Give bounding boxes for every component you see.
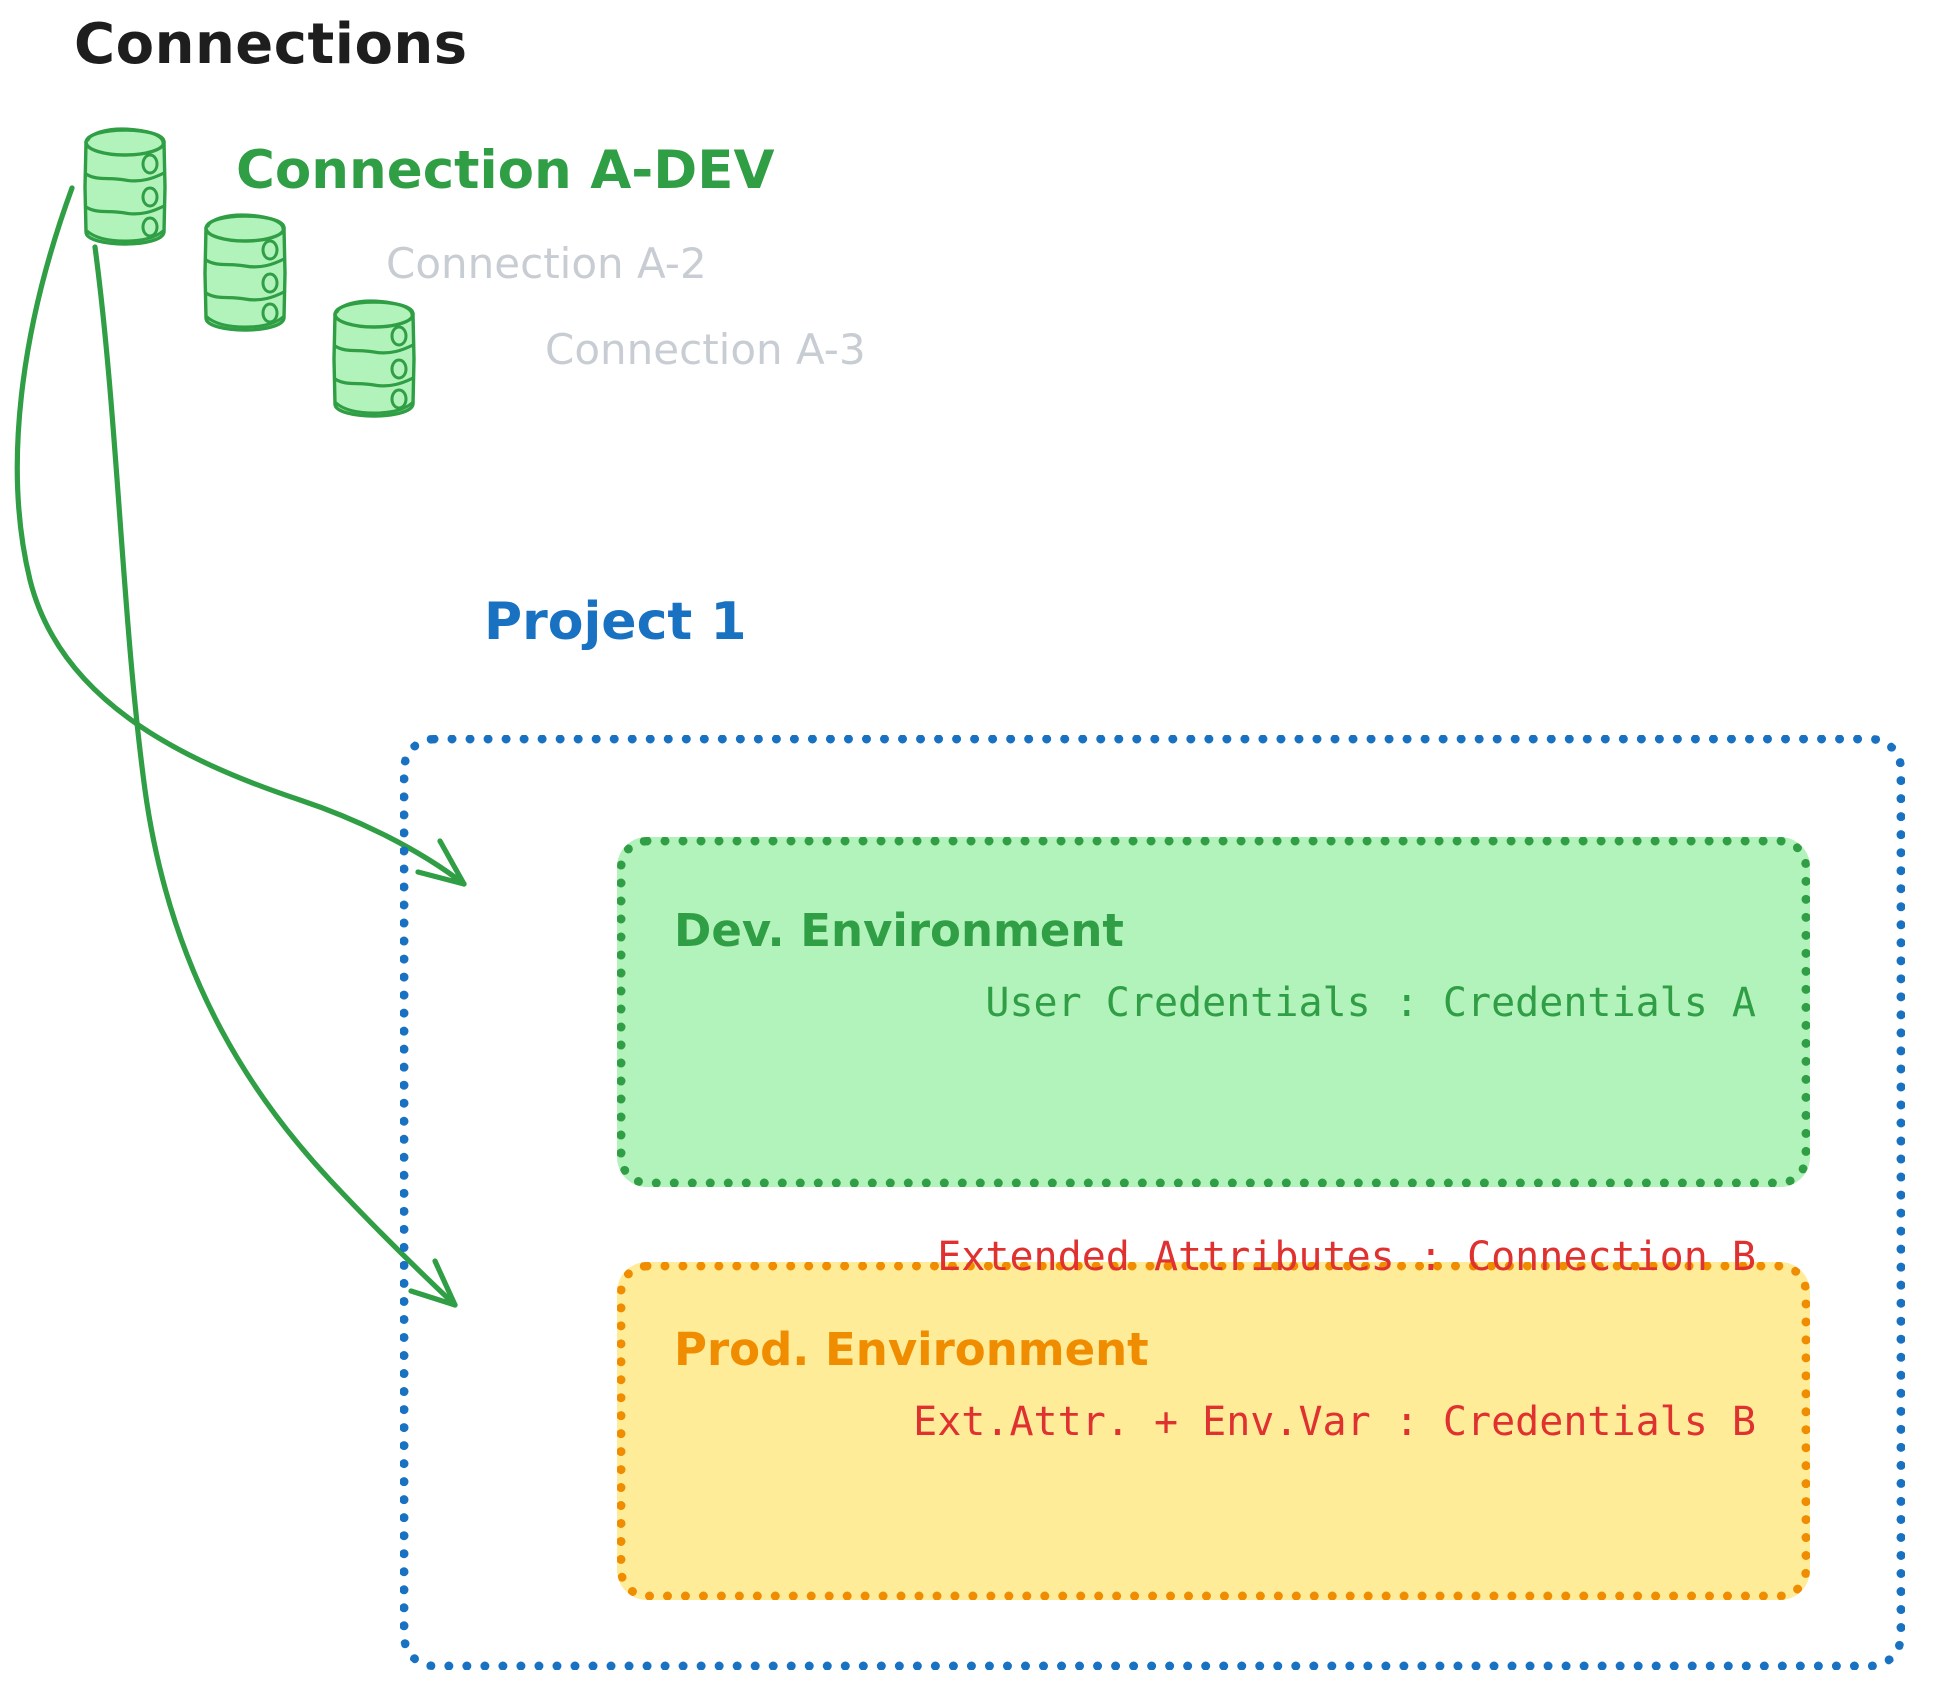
project-container: Dev. Environment User Credentials : Cred… xyxy=(400,735,1905,1670)
connection-label-a-3[interactable]: Connection A-3 xyxy=(545,325,866,374)
connection-label-a-dev[interactable]: Connection A-DEV xyxy=(236,140,774,201)
prod-environment-line-2: Ext.Attr. + Env.Var : Credentials B xyxy=(913,1395,1756,1450)
prod-environment-line-1: Extended Attributes : Connection B xyxy=(913,1230,1756,1285)
prod-environment-details: Extended Attributes : Connection B Ext.A… xyxy=(913,1120,1756,1562)
database-cylinder-icon-connection-a-2[interactable] xyxy=(205,215,285,330)
prod-environment-box[interactable]: Prod. Environment Extended Attributes : … xyxy=(617,1262,1810,1600)
dev-environment-line-1: User Credentials : Credentials A xyxy=(985,976,1756,1031)
connection-label-a-2[interactable]: Connection A-2 xyxy=(386,239,707,288)
dev-environment-details: User Credentials : Credentials A xyxy=(985,866,1756,1142)
diagram-canvas: Connections Connection A-DEV Connection … xyxy=(0,0,1938,1691)
page-title: Connections xyxy=(74,12,468,77)
database-cylinder-icon-connection-a-dev[interactable] xyxy=(85,129,165,244)
database-cylinder-icon-connection-a-3[interactable] xyxy=(334,301,414,416)
arrow-conn-to-dev xyxy=(17,188,464,884)
project-title: Project 1 xyxy=(484,592,747,652)
